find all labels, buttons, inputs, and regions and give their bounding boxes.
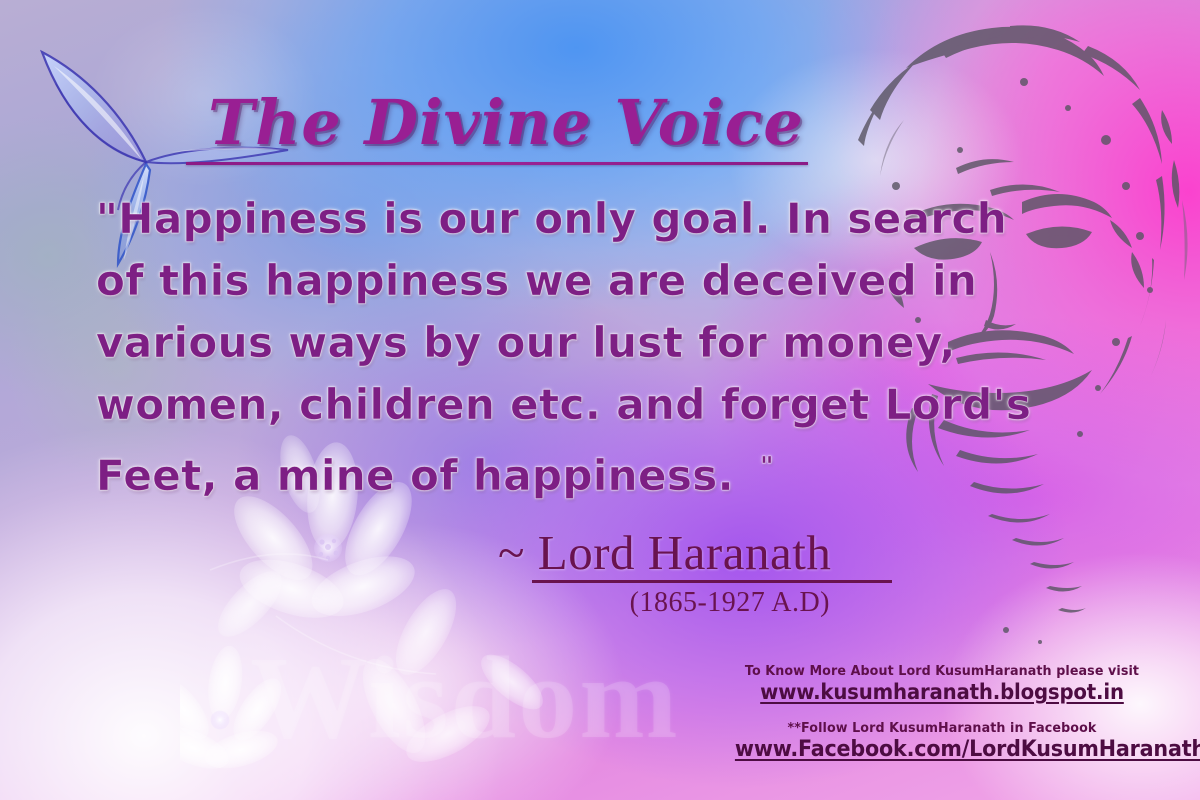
- quote-line-2: of this happiness we are deceived in: [96, 250, 906, 312]
- footer-block: To Know More About Lord KusumHaranath pl…: [732, 663, 1152, 762]
- title-underline: [186, 162, 808, 165]
- poster-canvas: Wisdom The Divine Voice "Happiness is ou…: [0, 0, 1200, 800]
- quote-line-1: "Happiness is our only goal. In search: [96, 188, 906, 250]
- footer-link-facebook[interactable]: www.Facebook.com/LordKusumHaranath: [735, 737, 1139, 762]
- quote-block: "Happiness is our only goal. In search o…: [96, 188, 906, 507]
- footer-note-blog: To Know More About Lord KusumHaranath pl…: [745, 663, 1140, 679]
- attribution-name: ~ Lord Haranath: [498, 528, 918, 578]
- footer-blog-group: To Know More About Lord KusumHaranath pl…: [732, 663, 1152, 704]
- page-title: The Divine Voice: [186, 92, 826, 154]
- closing-quote-mark: ": [760, 452, 774, 482]
- attribution-years: (1865-1927 A.D): [498, 587, 918, 619]
- quote-line-3: various ways by our lust for money,: [96, 312, 906, 374]
- footer-link-blog[interactable]: www.kusumharanath.blogspot.in: [745, 680, 1140, 704]
- quote-line-4: women, children etc. and forget Lord's: [96, 374, 906, 436]
- attribution-block: ~ Lord Haranath (1865-1927 A.D): [498, 528, 918, 619]
- attribution-underline: [532, 580, 892, 583]
- title-block: The Divine Voice: [186, 92, 826, 165]
- background-watermark-text: Wisdom: [250, 630, 680, 766]
- footer-facebook-group: **Follow Lord KusumHaranath in Facebook …: [732, 720, 1152, 762]
- quote-line-5: Feet, a mine of happiness.: [96, 451, 734, 500]
- footer-note-facebook: **Follow Lord KusumHaranath in Facebook: [745, 720, 1140, 736]
- quote-line-5-row: Feet, a mine of happiness.": [96, 436, 906, 507]
